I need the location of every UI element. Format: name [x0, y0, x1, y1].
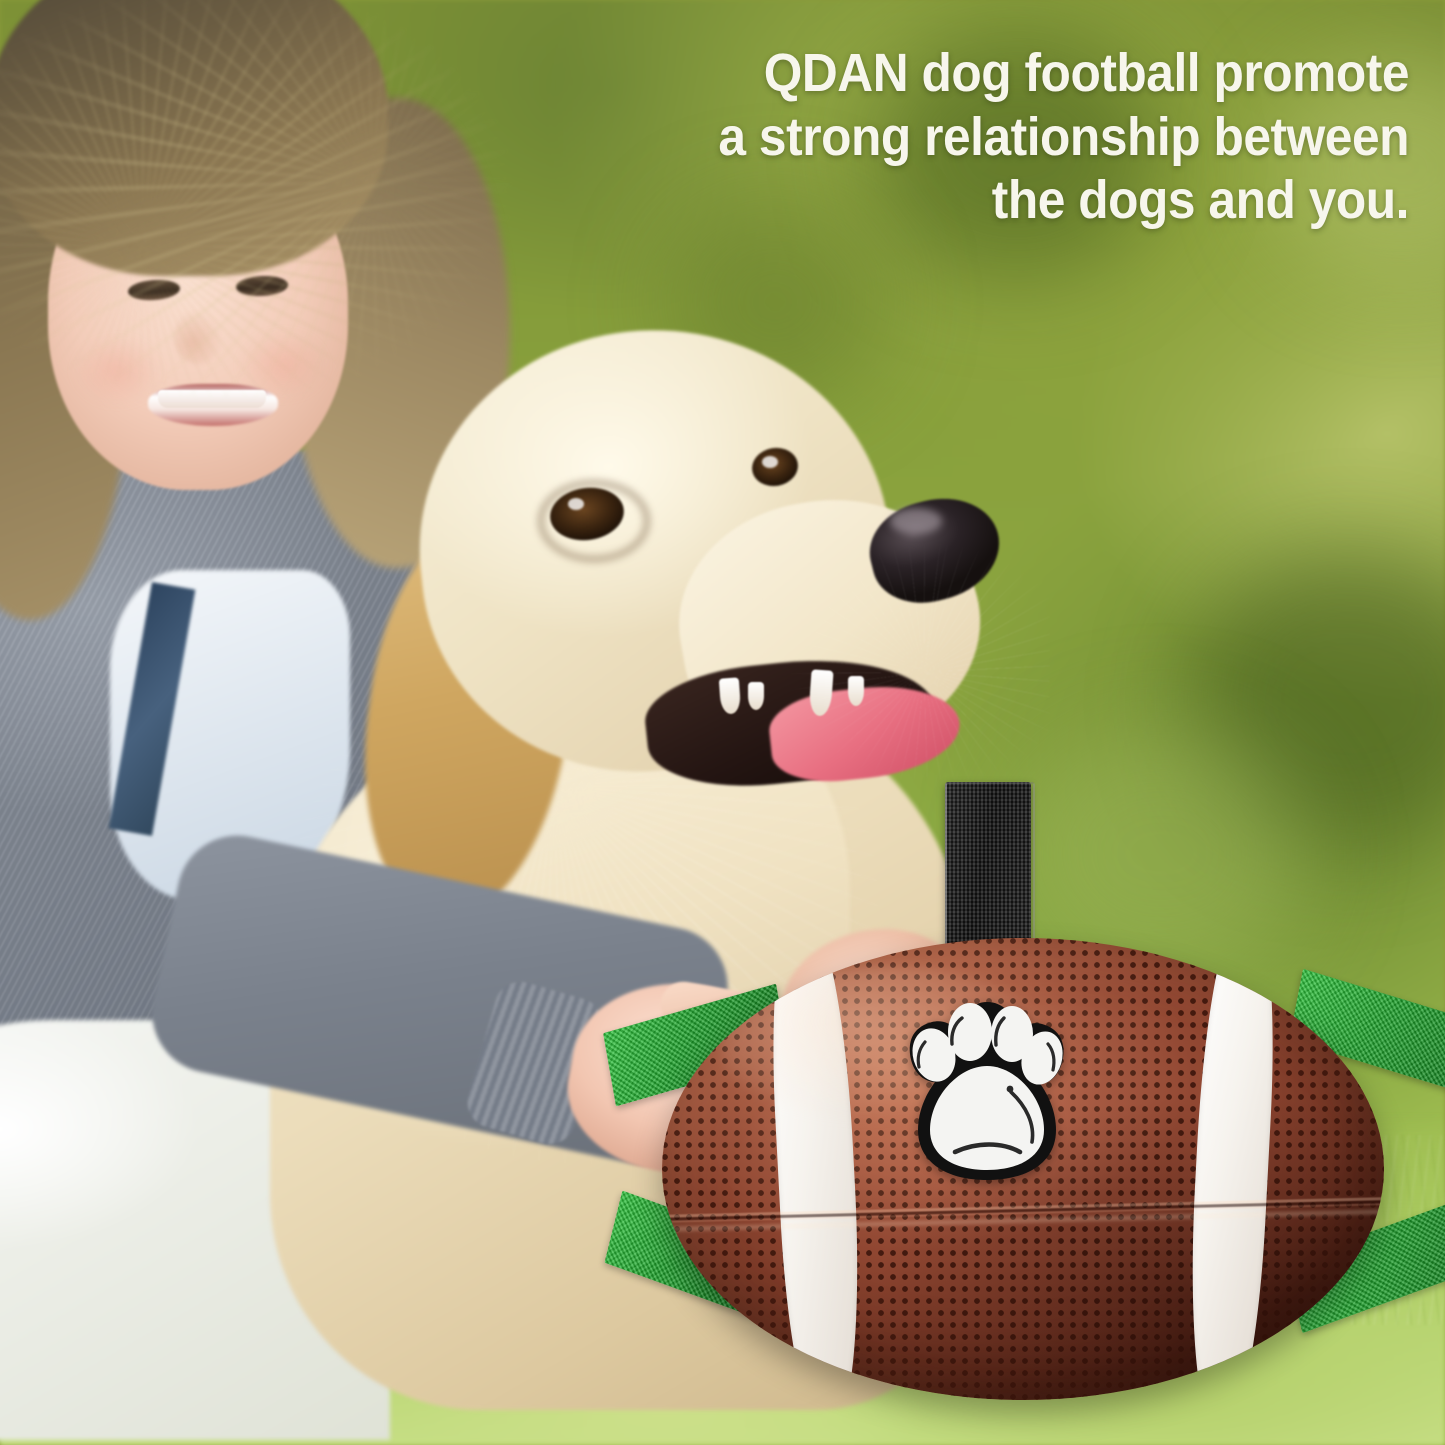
product-scene: QDAN dog football promote a strong relat… — [0, 0, 1445, 1445]
headline-line-1: QDAN dog football promote — [645, 42, 1409, 106]
headline-line-3: the dogs and you. — [645, 169, 1409, 233]
dog-whiskers — [630, 420, 1050, 780]
girl-arms-layer — [0, 0, 620, 1445]
headline-line-2: a strong relationship between — [645, 106, 1409, 170]
paw-print-icon — [892, 992, 1082, 1192]
dog-football-toy[interactable] — [600, 760, 1445, 1445]
headline-text: QDAN dog football promote a strong relat… — [645, 42, 1409, 233]
